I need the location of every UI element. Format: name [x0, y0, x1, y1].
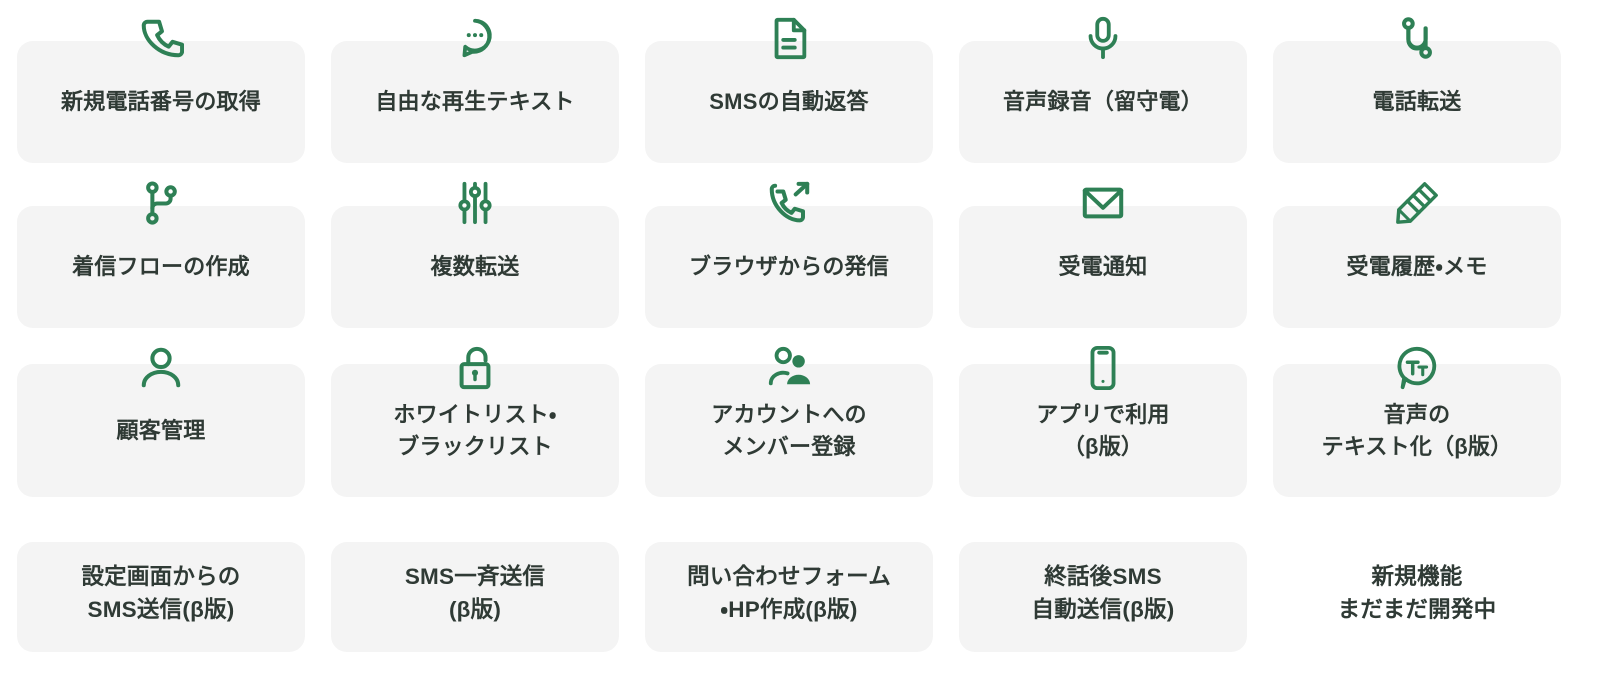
feature-cell-sms-auto-reply: SMSの自動返答: [645, 0, 933, 165]
feature-cell-voice-to-text: 音声の テキスト化（β版）: [1273, 330, 1561, 510]
feature-label-sms-from-settings: 設定画面からの SMS送信(β版): [81, 561, 240, 626]
feature-label-voice-recording: 音声録音（留守電）: [1003, 86, 1203, 117]
feature-cell-post-call-sms: 終話後SMS 自動送信(β版): [959, 510, 1247, 689]
feature-card-incoming-call-flow[interactable]: 着信フローの作成: [17, 206, 305, 328]
feature-label-contact-form-hp: 問い合わせフォーム ・HP作成(β版): [687, 561, 891, 626]
feature-card-multi-forwarding[interactable]: 複数転送: [331, 206, 619, 328]
feature-label-browser-outbound: ブラウザからの発信: [689, 251, 889, 282]
feature-cell-incoming-call-flow: 着信フローの作成: [17, 165, 305, 330]
feature-card-mobile-app[interactable]: アプリで利用 （β版）: [959, 364, 1247, 497]
feature-card-sms-from-settings[interactable]: 設定画面からの SMS送信(β版): [17, 542, 305, 652]
feature-cell-free-playback-text: 自由な再生テキスト: [331, 0, 619, 165]
feature-label-call-forwarding: 電話転送: [1373, 86, 1462, 117]
feature-cell-call-history-memo: 受電履歴・メモ: [1273, 165, 1561, 330]
feature-cell-member-registration: アカウントへの メンバー登録: [645, 330, 933, 510]
feature-card-new-features-coming[interactable]: 新規機能 まだまだ開発中: [1273, 542, 1561, 652]
feature-cell-voice-recording: 音声録音（留守電）: [959, 0, 1247, 165]
feature-cell-new-phone-number: 新規電話番号の取得: [17, 0, 305, 165]
feature-card-white-black-list[interactable]: ホワイトリスト・ ブラックリスト: [331, 364, 619, 497]
feature-label-mobile-app: アプリで利用 （β版）: [1036, 399, 1169, 463]
feature-label-sms-auto-reply: SMSの自動返答: [709, 86, 868, 117]
feature-label-call-notification: 受電通知: [1059, 251, 1148, 282]
feature-cell-call-forwarding: 電話転送: [1273, 0, 1561, 165]
feature-card-new-phone-number[interactable]: 新規電話番号の取得: [17, 41, 305, 163]
feature-label-sms-bulk-send: SMS一斉送信 (β版): [405, 561, 545, 626]
feature-card-call-forwarding[interactable]: 電話転送: [1273, 41, 1561, 163]
feature-label-call-history-memo: 受電履歴・メモ: [1346, 251, 1487, 282]
feature-cell-sms-from-settings: 設定画面からの SMS送信(β版): [17, 510, 305, 689]
feature-label-voice-to-text: 音声の テキスト化（β版）: [1322, 399, 1513, 463]
feature-label-incoming-call-flow: 着信フローの作成: [72, 251, 250, 282]
feature-card-customer-management[interactable]: 顧客管理: [17, 364, 305, 497]
feature-card-call-history-memo[interactable]: 受電履歴・メモ: [1273, 206, 1561, 328]
feature-card-sms-auto-reply[interactable]: SMSの自動返答: [645, 41, 933, 163]
feature-card-browser-outbound[interactable]: ブラウザからの発信: [645, 206, 933, 328]
feature-label-new-phone-number: 新規電話番号の取得: [61, 86, 261, 117]
feature-cell-customer-management: 顧客管理: [17, 330, 305, 510]
feature-label-new-features-coming: 新規機能 まだまだ開発中: [1338, 561, 1497, 626]
feature-cell-contact-form-hp: 問い合わせフォーム ・HP作成(β版): [645, 510, 933, 689]
feature-cell-mobile-app: アプリで利用 （β版）: [959, 330, 1247, 510]
feature-card-voice-to-text[interactable]: 音声の テキスト化（β版）: [1273, 364, 1561, 497]
feature-card-contact-form-hp[interactable]: 問い合わせフォーム ・HP作成(β版): [645, 542, 933, 652]
feature-cell-call-notification: 受電通知: [959, 165, 1247, 330]
feature-cell-new-features-coming: 新規機能 まだまだ開発中: [1273, 510, 1561, 689]
feature-label-member-registration: アカウントへの メンバー登録: [711, 399, 867, 463]
feature-card-post-call-sms[interactable]: 終話後SMS 自動送信(β版): [959, 542, 1247, 652]
feature-card-voice-recording[interactable]: 音声録音（留守電）: [959, 41, 1247, 163]
feature-grid: 新規電話番号の取得自由な再生テキストSMSの自動返答音声録音（留守電）電話転送着…: [0, 0, 1600, 699]
feature-card-sms-bulk-send[interactable]: SMS一斉送信 (β版): [331, 542, 619, 652]
feature-cell-white-black-list: ホワイトリスト・ ブラックリスト: [331, 330, 619, 510]
feature-cell-multi-forwarding: 複数転送: [331, 165, 619, 330]
feature-card-call-notification[interactable]: 受電通知: [959, 206, 1247, 328]
feature-card-free-playback-text[interactable]: 自由な再生テキスト: [331, 41, 619, 163]
feature-cell-browser-outbound: ブラウザからの発信: [645, 165, 933, 330]
feature-label-white-black-list: ホワイトリスト・ ブラックリスト: [393, 399, 556, 463]
feature-cell-sms-bulk-send: SMS一斉送信 (β版): [331, 510, 619, 689]
feature-label-free-playback-text: 自由な再生テキスト: [375, 86, 574, 117]
feature-label-customer-management: 顧客管理: [117, 415, 206, 447]
feature-card-member-registration[interactable]: アカウントへの メンバー登録: [645, 364, 933, 497]
feature-label-post-call-sms: 終話後SMS 自動送信(β版): [1031, 561, 1174, 626]
feature-label-multi-forwarding: 複数転送: [431, 251, 520, 282]
